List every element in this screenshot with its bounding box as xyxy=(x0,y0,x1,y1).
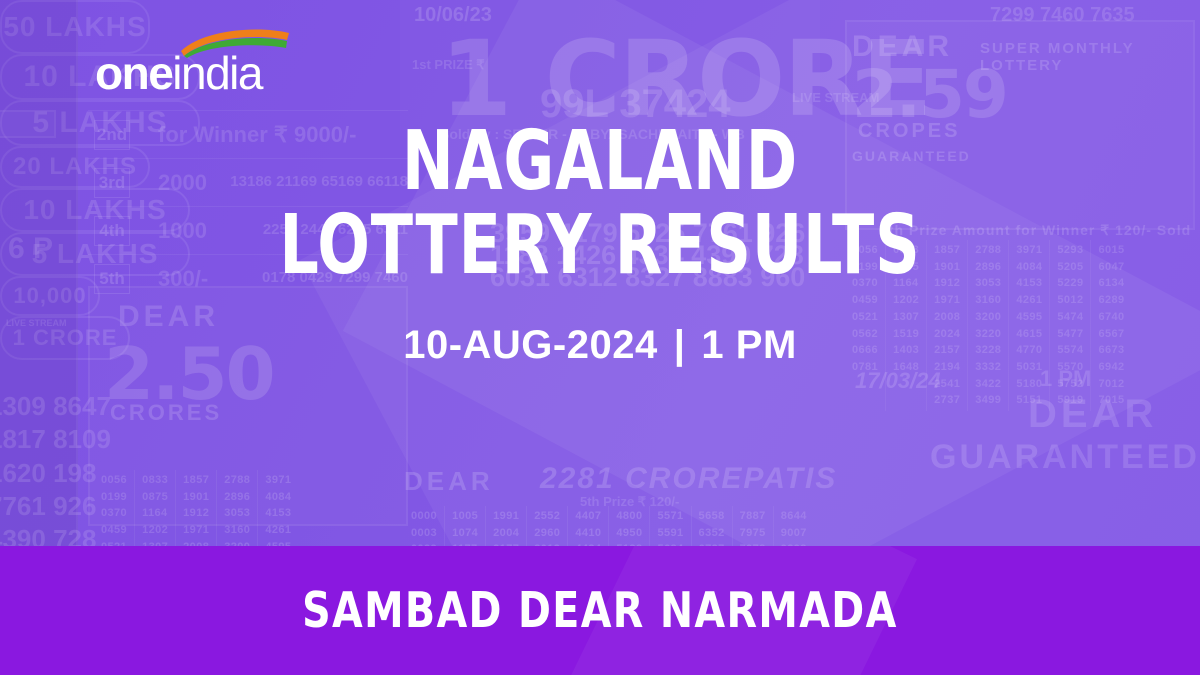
lottery-result-banner: 50 LAKHS 6 P LIVE STREAM 10/06/23 1st PR… xyxy=(0,0,1200,675)
grid-cell: 6352 xyxy=(699,525,725,542)
grid-column: 7887 7975 7978 xyxy=(732,506,773,546)
page-title-line-2: LOTTERY RESULTS xyxy=(96,204,1104,288)
grid-column: 4407 4410 4434 xyxy=(567,506,608,546)
draw-datetime: 10-AUG-2024|1 PM xyxy=(0,323,1200,368)
grid-cell: 4153 xyxy=(265,505,291,522)
grid-column: 2552 2960 3012 xyxy=(526,506,567,546)
grid-cell: 7887 xyxy=(740,508,766,525)
grid-cell: 0000 xyxy=(411,508,437,525)
grid-cell: 3422 xyxy=(975,376,1001,393)
grid-cell: 2788 xyxy=(224,472,250,489)
grid-cell: 9007 xyxy=(781,525,807,542)
grid-cell: 1857 xyxy=(183,472,209,489)
grid-cell: 7975 xyxy=(740,525,766,542)
grid-cell: 4261 xyxy=(265,522,291,539)
grid-cell: 0521 xyxy=(101,539,127,546)
lottery-name-bar: SAMBAD DEAR NARMADA xyxy=(0,546,1200,675)
grid-column: 3971 4084 4153 4261 4595 xyxy=(257,470,298,546)
grid-cell: 0459 xyxy=(101,522,127,539)
grid-cell: 2552 xyxy=(534,508,560,525)
grid-cell: 4950 xyxy=(616,525,642,542)
collage-live-stream-mid: LIVE STREAM xyxy=(792,90,879,106)
grid-cell: 1912 xyxy=(183,505,209,522)
grid-cell: 8644 xyxy=(781,508,807,525)
grid-column: 5571 5591 5684 xyxy=(649,506,690,546)
draw-time: 1 PM xyxy=(701,323,796,367)
grid-cell: 0003 xyxy=(411,525,437,542)
collage-guaranteed-br: GUARANTEED xyxy=(930,438,1200,477)
grid-column: 1991 2004 2177 xyxy=(485,506,526,546)
collage-brand-dear-bottom: DEAR xyxy=(404,466,494,497)
grid-column: 0833 0875 1164 1202 1307 xyxy=(134,470,175,546)
lottery-name-label: SAMBAD DEAR NARMADA xyxy=(302,582,898,639)
grid-cell: 0199 xyxy=(101,489,127,506)
page-title-line-1: NAGALAND xyxy=(96,120,1104,204)
grid-cell: 2737 xyxy=(934,392,960,409)
headline-block: NAGALAND LOTTERY RESULTS 10-AUG-2024|1 P… xyxy=(0,120,1200,368)
grid-cell: 3200 xyxy=(224,539,250,546)
grid-cell: 7012 xyxy=(1098,376,1124,393)
grid-cell: 1307 xyxy=(142,539,168,546)
grid-cell: 2896 xyxy=(224,489,250,506)
logo-text-one: one xyxy=(95,47,172,99)
grid-column: 1005 1074 1177 xyxy=(444,506,485,546)
grid-cell: 4407 xyxy=(575,508,601,525)
grid-cell: 2960 xyxy=(534,525,560,542)
oneindia-logo[interactable]: oneindia xyxy=(95,44,262,96)
grid-column: 0056 0199 0370 0459 0521 xyxy=(94,470,134,546)
grid-column: 1857 1901 1912 1971 2008 xyxy=(175,470,216,546)
collage-second-date: 17/03/24 xyxy=(855,368,941,394)
collage-brand-dear-br: DEAR xyxy=(1028,392,1157,437)
collage-number-grid-a-left: 0056 0199 0370 0459 0521 0833 0875 1164 … xyxy=(94,470,298,546)
grid-cell: 5180 xyxy=(1016,376,1042,393)
collage-number-grid-b: 0000 0003 0022 1005 1074 1177 1991 2004 … xyxy=(404,506,814,546)
collage-time-stamp: 1 PM xyxy=(1040,366,1091,392)
grid-cell: 5591 xyxy=(657,525,683,542)
grid-column: 2788 2896 3053 3160 3200 xyxy=(216,470,257,546)
grid-cell: 0875 xyxy=(142,489,168,506)
collage-brand-super-monthly: SUPER MONTHLY LOTTERY xyxy=(980,40,1200,74)
grid-cell: 4410 xyxy=(575,525,601,542)
collage-top-right-numbers: 7299 7460 7635 xyxy=(990,4,1135,27)
grid-cell: 1074 xyxy=(452,525,478,542)
grid-cell: 3971 xyxy=(265,472,291,489)
grid-cell: 2004 xyxy=(493,525,519,542)
grid-cell: 5571 xyxy=(657,508,683,525)
india-tricolor-swoosh-icon xyxy=(179,24,291,58)
grid-column: 0000 0003 0022 xyxy=(404,506,444,546)
grid-cell: 2008 xyxy=(183,539,209,546)
grid-cell: 4084 xyxy=(265,489,291,506)
grid-cell: 3053 xyxy=(224,505,250,522)
collage-guarantee-text: CRORES xyxy=(110,400,222,426)
grid-cell: 4800 xyxy=(616,508,642,525)
grid-cell: 1901 xyxy=(183,489,209,506)
grid-column: 8644 9007 9298 xyxy=(773,506,814,546)
grid-cell: 0370 xyxy=(101,505,127,522)
grid-cell: 3499 xyxy=(975,392,1001,409)
grid-cell: 1202 xyxy=(142,522,168,539)
grid-cell: 4595 xyxy=(265,539,291,546)
grid-cell: 0056 xyxy=(101,472,127,489)
grid-cell: 5658 xyxy=(699,508,725,525)
separator: | xyxy=(658,323,702,367)
grid-cell: 1971 xyxy=(183,522,209,539)
grid-cell: 1991 xyxy=(493,508,519,525)
grid-cell: 3160 xyxy=(224,522,250,539)
grid-cell: 0833 xyxy=(142,472,168,489)
grid-column: 4800 4950 5138 xyxy=(608,506,649,546)
grid-cell: 1005 xyxy=(452,508,478,525)
grid-cell: 1164 xyxy=(142,505,168,522)
grid-column: 5658 6352 6727 xyxy=(691,506,732,546)
draw-date: 10-AUG-2024 xyxy=(403,323,658,367)
collage-crorepatis: 2281 CROREPATIS xyxy=(540,462,837,496)
